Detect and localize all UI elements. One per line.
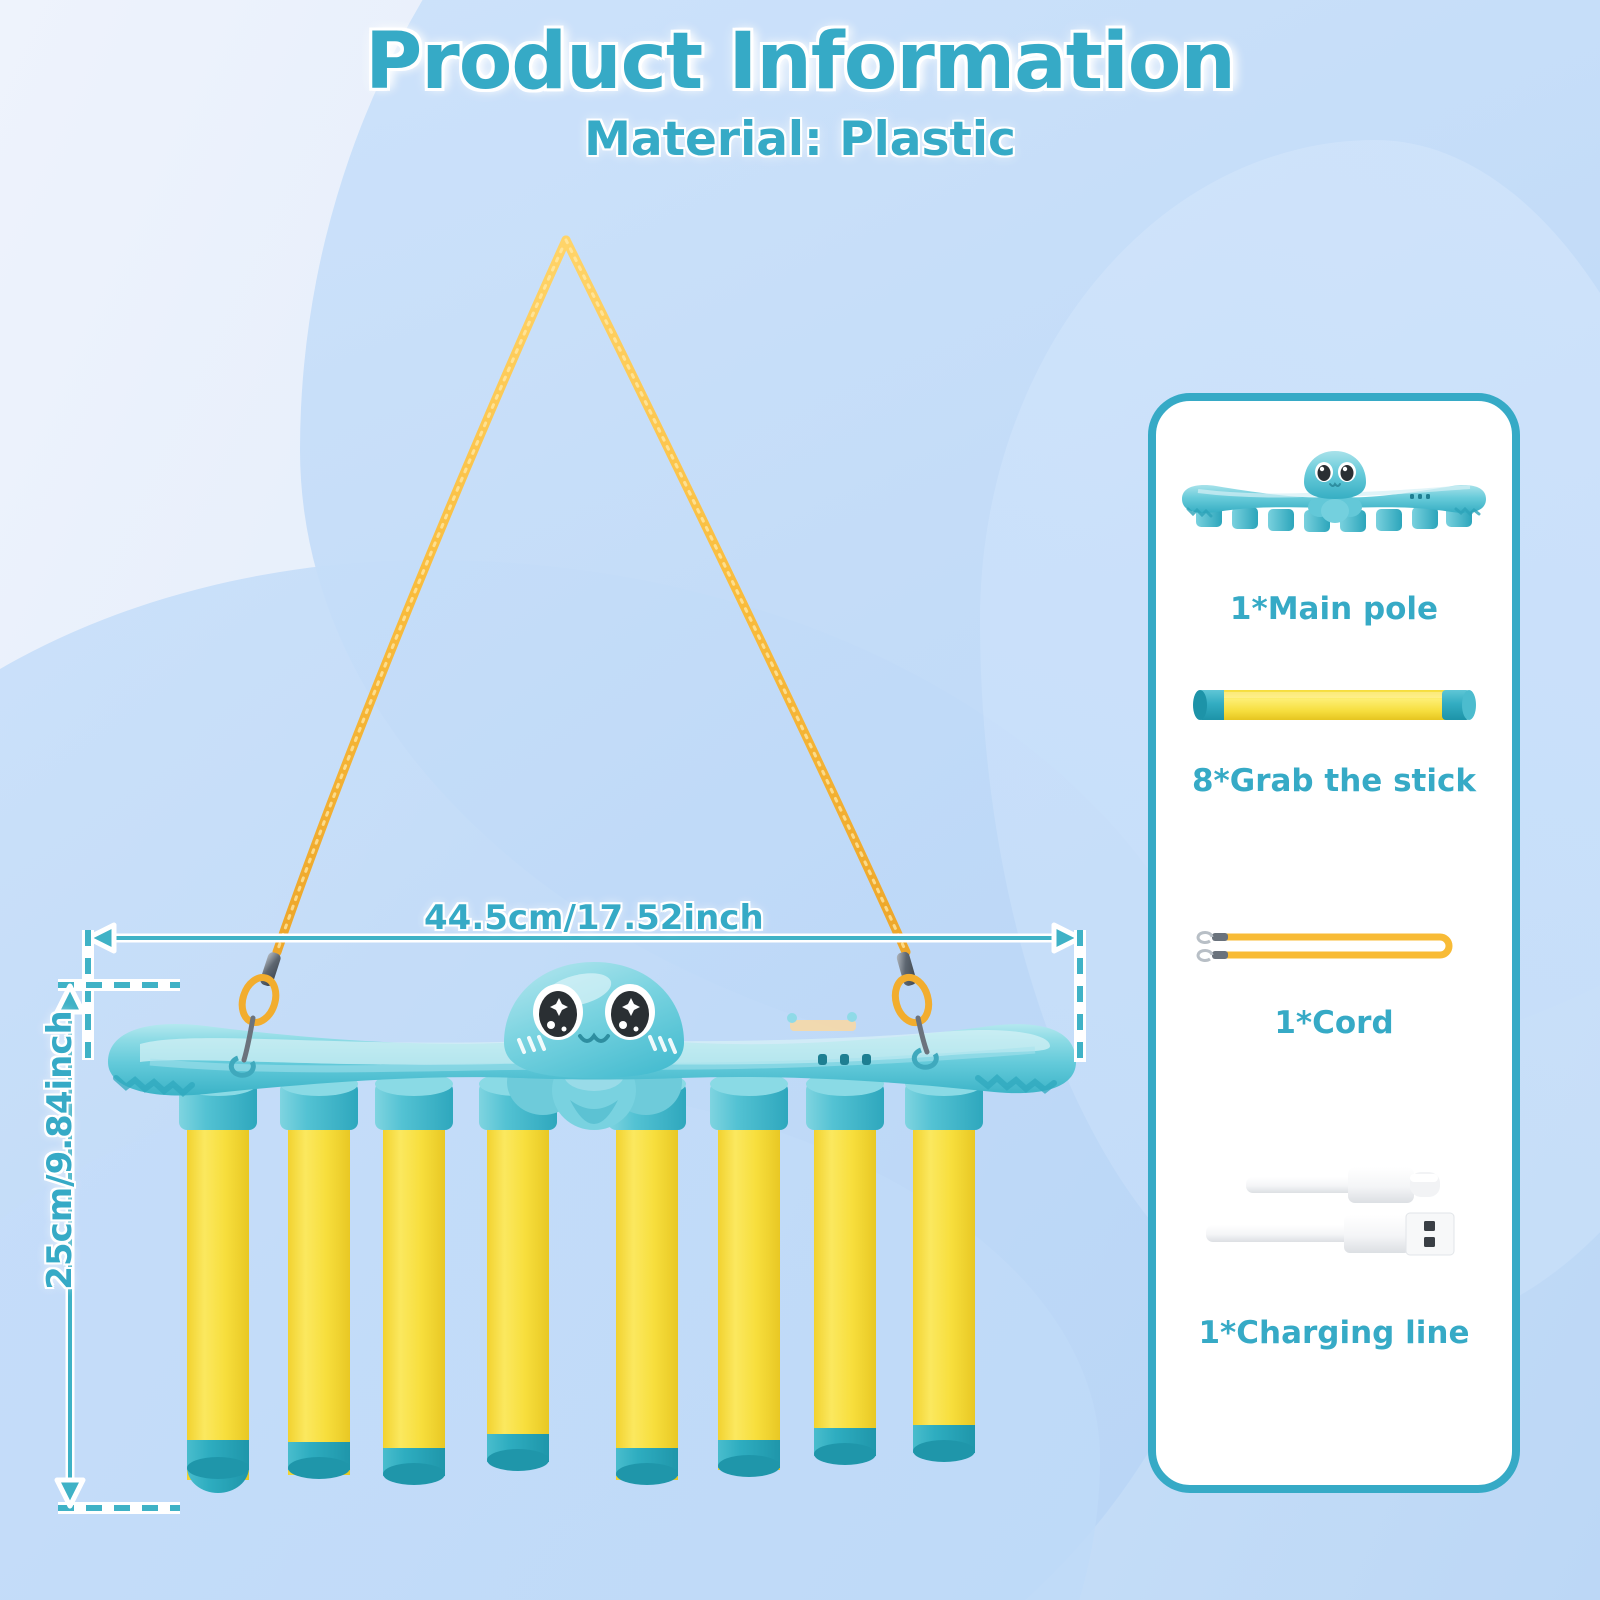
part-item-cord: 1*Cord bbox=[1156, 921, 1512, 1041]
usb-a-plug bbox=[1206, 1213, 1454, 1255]
part-item-grab-stick: 8*Grab the stick bbox=[1156, 681, 1512, 799]
octopus-head bbox=[504, 962, 684, 1078]
part-item-main-pole: 1*Main pole bbox=[1156, 427, 1512, 627]
usb-charging-cable-icon bbox=[1156, 1161, 1512, 1281]
dive-sticks-group bbox=[187, 1110, 975, 1493]
dive-stick bbox=[718, 1110, 780, 1477]
part-label-main-pole: 1*Main pole bbox=[1230, 591, 1438, 627]
dive-stick bbox=[616, 1110, 678, 1485]
header-block: Product Information Material: Plastic bbox=[0, 22, 1600, 167]
grab-stick-icon bbox=[1156, 681, 1512, 729]
page-title: Product Information bbox=[0, 22, 1600, 104]
dive-stick bbox=[814, 1110, 876, 1465]
dive-stick bbox=[383, 1110, 445, 1485]
cord-loop-icon bbox=[1156, 921, 1512, 971]
usb-c-plug bbox=[1246, 1167, 1440, 1203]
part-item-charging-line: 1*Charging line bbox=[1156, 1161, 1512, 1351]
part-label-charging-line: 1*Charging line bbox=[1198, 1315, 1469, 1351]
material-subtitle: Material: Plastic bbox=[0, 112, 1600, 167]
product-label-sticker bbox=[787, 1012, 857, 1031]
product-information-infographic: Product Information Material: Plastic bbox=[0, 0, 1600, 1600]
dive-stick bbox=[487, 1110, 549, 1471]
octopus-main-pole-icon bbox=[1156, 427, 1512, 557]
part-label-grab-stick: 8*Grab the stick bbox=[1192, 763, 1476, 799]
vent-holes bbox=[818, 1054, 871, 1065]
dive-stick bbox=[288, 1110, 350, 1479]
dive-stick bbox=[913, 1110, 975, 1462]
dive-stick bbox=[187, 1110, 249, 1493]
parts-list-panel: 1*Main pole bbox=[1148, 393, 1520, 1493]
part-label-cord: 1*Cord bbox=[1274, 1005, 1393, 1041]
